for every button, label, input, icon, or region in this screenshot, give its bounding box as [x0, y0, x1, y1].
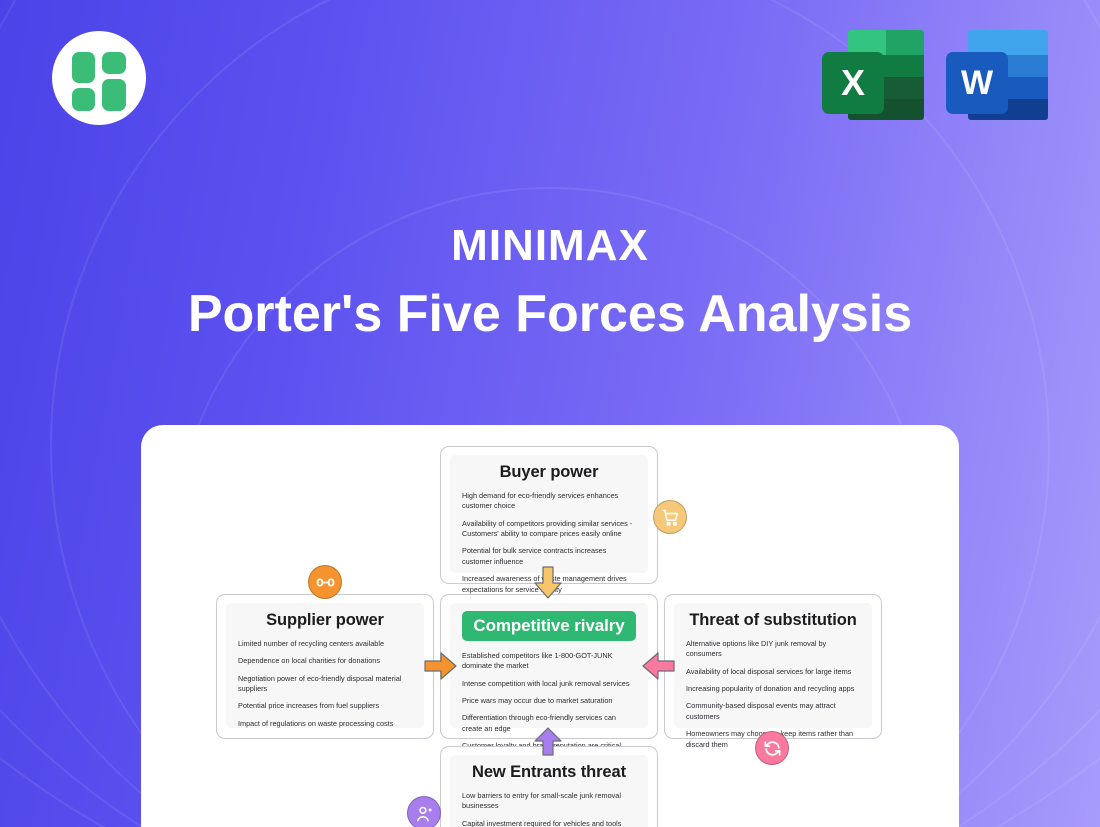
list-item: Potential for bulk service contracts inc…: [462, 546, 636, 567]
export-format-icons: X W: [822, 30, 1048, 120]
word-icon[interactable]: W: [946, 30, 1048, 120]
node-competitive-rivalry[interactable]: Competitive rivalry Established competit…: [440, 594, 658, 739]
poster-titles: MINIMAX Porter's Five Forces Analysis: [0, 218, 1100, 349]
list-item: Price wars may occur due to market satur…: [462, 696, 636, 706]
logo-tile-2: [102, 52, 126, 74]
list-item: Low barriers to entry for small-scale ju…: [462, 791, 636, 812]
list-item: Increasing popularity of donation and re…: [686, 684, 860, 694]
poster-page: X W MINIMAX Porter's Five Forces Analysi…: [0, 0, 1100, 827]
logo-tile-3: [72, 88, 95, 111]
excel-letter: X: [822, 52, 884, 114]
arrow-substitution-to-rivalry[interactable]: [641, 650, 675, 687]
word-letter: W: [946, 52, 1008, 114]
list-item: Alternative options like DIY junk remova…: [686, 639, 860, 660]
list-item: High demand for eco-friendly services en…: [462, 491, 636, 512]
page-subtitle: Porter's Five Forces Analysis: [0, 281, 1100, 349]
node-title-entrants: New Entrants threat: [462, 763, 636, 782]
list-item: Potential price increases from fuel supp…: [238, 701, 412, 711]
list-item: Negotiation power of eco-friendly dispos…: [238, 674, 412, 695]
grid-logo-icon: [72, 52, 126, 104]
node-supplier-power[interactable]: Supplier power Limited number of recycli…: [216, 594, 434, 739]
node-threat-of-substitution[interactable]: Threat of substitution Alternative optio…: [664, 594, 882, 739]
add-user-icon[interactable]: [407, 796, 441, 827]
node-buyer-power[interactable]: Buyer power High demand for eco-friendly…: [440, 446, 658, 584]
page-title: MINIMAX: [0, 218, 1100, 273]
node-list-entrants: Low barriers to entry for small-scale ju…: [462, 791, 636, 827]
node-title-rivalry: Competitive rivalry: [462, 611, 636, 641]
list-item: Impact of regulations on waste processin…: [238, 719, 412, 729]
list-item: Limited number of recycling centers avai…: [238, 639, 412, 649]
list-item: Capital investment required for vehicles…: [462, 819, 636, 827]
arrow-supplier-to-rivalry[interactable]: [424, 650, 458, 687]
list-item: Availability of competitors providing si…: [462, 519, 636, 540]
refresh-sync-icon[interactable]: [755, 731, 789, 765]
arrow-entrants-to-rivalry[interactable]: [532, 727, 564, 762]
list-item: Availability of local disposal services …: [686, 667, 860, 677]
node-title-substitution: Threat of substitution: [686, 611, 860, 630]
list-item: Established competitors like 1-800-GOT-J…: [462, 651, 636, 672]
arrow-buyer-to-rivalry[interactable]: [532, 566, 564, 605]
node-title-supplier: Supplier power: [238, 611, 412, 630]
node-list-supplier: Limited number of recycling centers avai…: [238, 639, 412, 729]
link-chain-icon[interactable]: [308, 565, 342, 599]
shopping-cart-icon[interactable]: [653, 500, 687, 534]
list-item: Dependence on local charities for donati…: [238, 656, 412, 666]
excel-icon[interactable]: X: [822, 30, 924, 120]
list-item: Intense competition with local junk remo…: [462, 679, 636, 689]
brand-logo: [52, 31, 146, 125]
node-title-buyer: Buyer power: [462, 463, 636, 482]
list-item: Community-based disposal events may attr…: [686, 701, 860, 722]
logo-tile-1: [72, 52, 95, 83]
logo-tile-4: [102, 79, 126, 111]
